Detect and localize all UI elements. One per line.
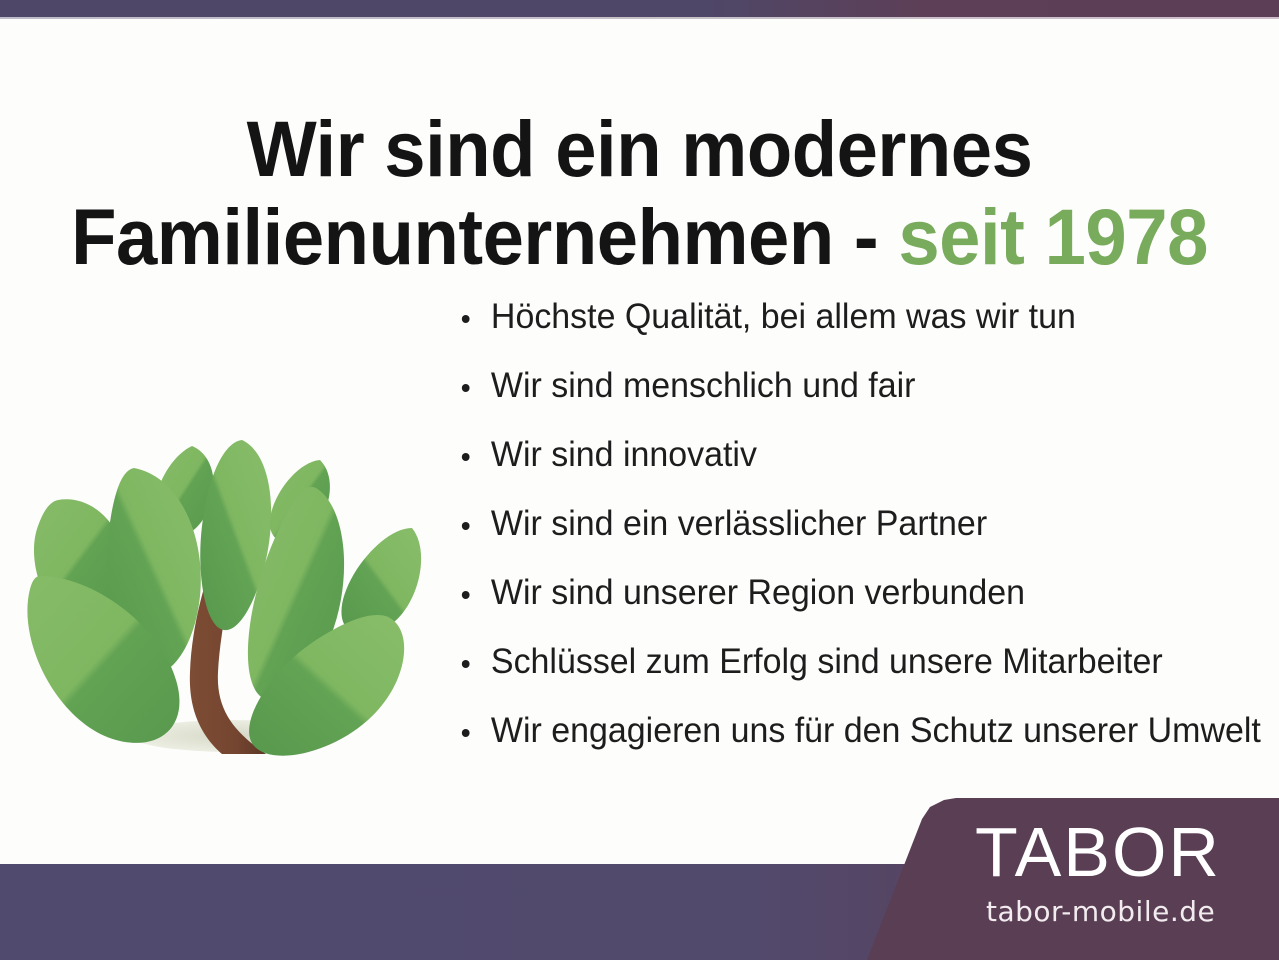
brand-website-url: tabor-mobile.de [986, 898, 1215, 926]
list-item: Schlüssel zum Erfolg sind unsere Mitarbe… [456, 645, 1242, 679]
list-item: Wir sind ein verlässlicher Partner [456, 507, 1242, 541]
value-list: Höchste Qualität, bei allem was wir tun … [456, 300, 1266, 783]
page-title: Wir sind ein modernes Familienunternehme… [38, 105, 1240, 281]
list-item: Wir sind innovativ [456, 438, 1242, 472]
tree-logo-illustration [20, 328, 450, 768]
list-item: Wir sind menschlich und fair [456, 369, 1242, 403]
headline-line-1: Wir sind ein modernes [247, 104, 1033, 193]
top-accent-bar [0, 0, 1279, 17]
tree-leaves [27, 440, 421, 756]
list-item: Höchste Qualität, bei allem was wir tun [456, 300, 1242, 334]
headline-line-2-main: Familienunternehmen - [71, 192, 898, 281]
list-item: Wir engagieren uns für den Schutz unsere… [456, 714, 1242, 748]
slide-canvas: Wir sind ein modernes Familienunternehme… [0, 0, 1279, 960]
headline-accent: seit 1978 [898, 192, 1208, 281]
headline-line-2: Familienunternehmen - seit 1978 [38, 193, 1240, 281]
brand-wordmark: TABOR [975, 817, 1221, 887]
list-item: Wir sind unserer Region verbunden [456, 576, 1242, 610]
top-accent-bar-underline [0, 17, 1279, 19]
